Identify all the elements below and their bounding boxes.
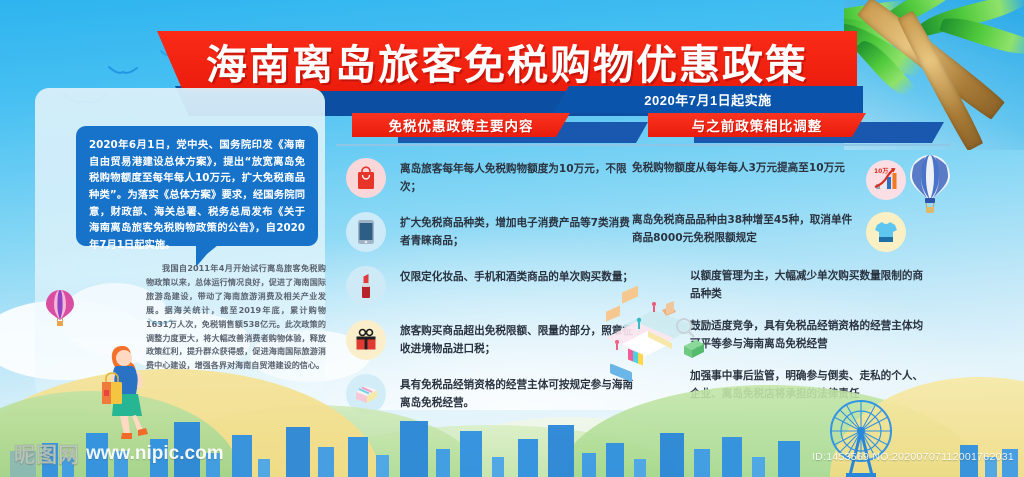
building-shape — [518, 439, 538, 477]
building-shape — [376, 455, 389, 477]
hot-air-balloon-blue — [908, 153, 952, 220]
ferris-wheel — [818, 397, 904, 477]
policy-item: 扩大免税商品种类，增加电子消费产品等7类消费者青睐商品； — [346, 212, 636, 252]
change-item-text: 免税购物额度从每年每人3万元提高至10万元 — [632, 160, 854, 178]
column-header-right: 与之前政策相比调整 — [648, 113, 948, 149]
change-item-text: 离岛免税商品品种由38种增至45种，取消单件商品8000元免税限额规定 — [632, 212, 854, 248]
building-shape — [232, 435, 252, 477]
svg-text:10万: 10万 — [874, 168, 888, 175]
building-shape — [492, 457, 504, 477]
policy-item: 离岛旅客每年每人免税购物额度为10万元，不限次； — [346, 158, 636, 198]
shopping-bag-icon — [346, 158, 386, 198]
image-id-text: ID:1453569 NO:20200707112001762031 — [812, 451, 1014, 463]
building-shape — [582, 453, 596, 477]
building-shape — [460, 431, 482, 477]
building-shape — [286, 427, 310, 477]
watermark-url: www.nipic.com — [86, 443, 224, 465]
tshirt-icon — [866, 212, 906, 252]
building-shape — [436, 449, 450, 477]
building-shape — [348, 437, 368, 477]
building-shape — [548, 425, 574, 477]
title-red-banner: 海南离岛旅客免税购物优惠政策 — [157, 31, 857, 91]
watermark: 昵图网 www.nipic.com — [14, 439, 224, 469]
column-right-title: 与之前政策相比调整 — [692, 115, 823, 135]
change-item-text: 以额度管理为主，大幅减少单次购买数量限制的商品种类 — [690, 268, 926, 304]
building-shape — [258, 459, 270, 477]
building-shape — [660, 433, 684, 477]
building-shape — [722, 437, 742, 477]
intro-bubble-text: 2020年6月1日，党中央、国务院印发《海南自由贸易港建设总体方案》，提出“放宽… — [89, 137, 305, 254]
building-shape — [634, 459, 646, 477]
poster-canvas: 海南离岛旅客免税购物优惠政策 2020年7月1日起实施 2020年6月1日，党中… — [0, 0, 1024, 477]
building-shape — [694, 449, 710, 477]
building-shape — [752, 457, 765, 477]
lipstick-icon — [346, 266, 386, 306]
change-item: 以额度管理为主，大幅减少单次购买数量限制的商品种类 — [690, 268, 930, 304]
building-shape — [318, 447, 334, 477]
bird-icon — [108, 66, 138, 80]
policy-item-text: 扩大免税商品种类，增加电子消费产品等7类消费者青睐商品； — [400, 212, 636, 251]
change-item: 免税购物额度从每年每人3万元提高至10万元 10万 — [632, 160, 922, 200]
column-header-left: 免税优惠政策主要内容 — [352, 113, 652, 149]
watermark-logo: 昵图网 — [14, 439, 80, 469]
building-shape — [606, 443, 624, 477]
subtitle-text: 2020年7月1日起实施 — [644, 90, 771, 109]
column-left-title: 免税优惠政策主要内容 — [389, 115, 534, 135]
change-item: 离岛免税商品品种由38种增至45种，取消单件商品8000元免税限额规定 — [632, 212, 922, 252]
page-title: 海南离岛旅客免税购物优惠政策 — [206, 31, 808, 91]
policy-item-text: 离岛旅客每年每人免税购物额度为10万元，不限次； — [400, 158, 636, 197]
smartphone-icon — [346, 212, 386, 252]
growth-chart-icon: 10万 — [866, 160, 906, 200]
intro-speech-bubble: 2020年6月1日，党中央、国务院印发《海南自由贸易港建设总体方案》，提出“放宽… — [76, 126, 318, 246]
building-shape — [400, 421, 428, 477]
building-shape — [778, 441, 800, 477]
subtitle-banner: 2020年7月1日起实施 — [553, 86, 863, 113]
